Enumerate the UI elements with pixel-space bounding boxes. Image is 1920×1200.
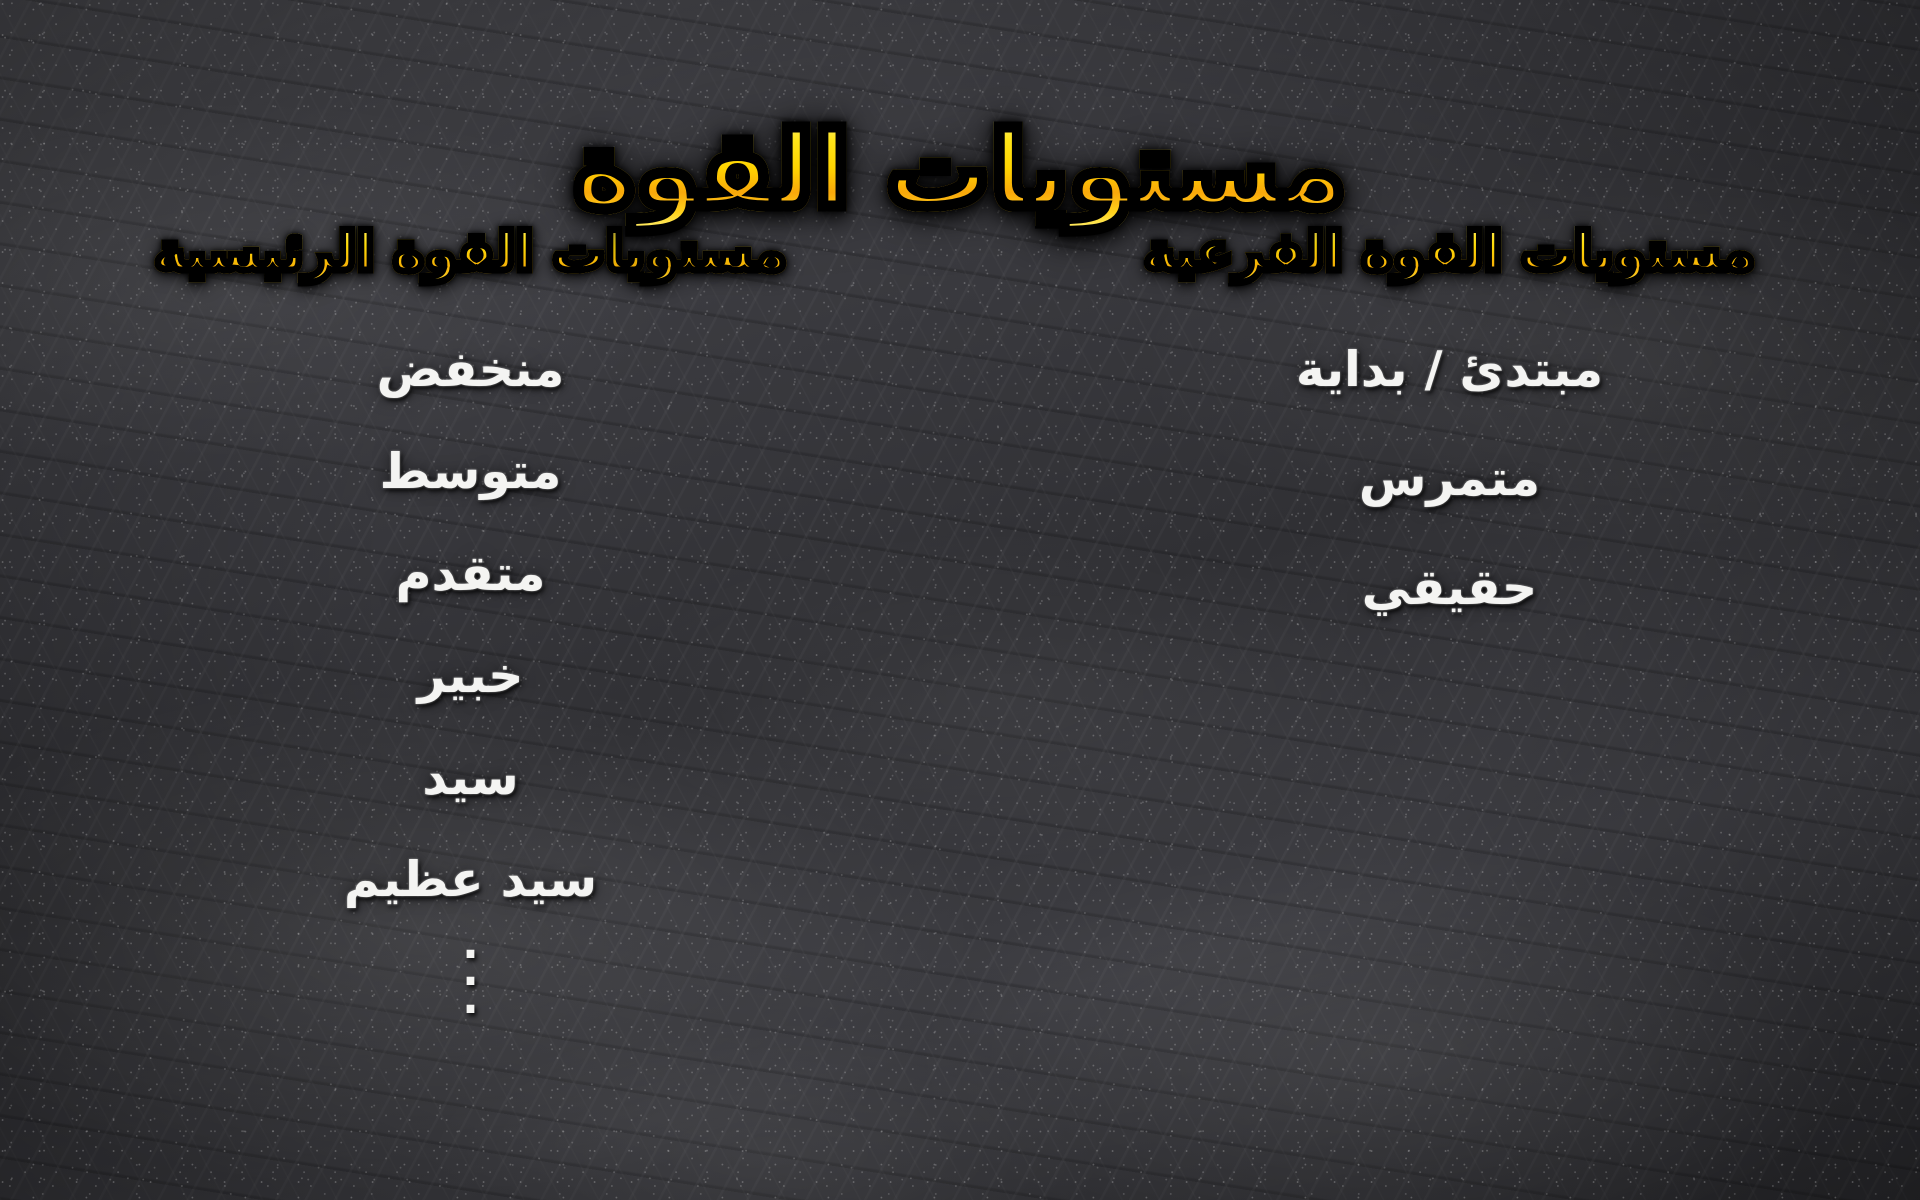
list-item: متوسط [344, 447, 597, 496]
title-container: مستويات القوة [0, 44, 1920, 296]
main-levels-list: منخفض متوسط متقدم خبير سيد سيد عظيم [344, 345, 597, 904]
continuation-dots: . . . [462, 930, 479, 1012]
list-item: سيد [344, 753, 597, 802]
list-item: مبتدئ / بداية [1296, 345, 1603, 394]
continuation-dot: . [462, 985, 479, 1012]
list-item: خبير [344, 651, 597, 700]
main-levels-column: مستويات القوة الرئيسية منخفض متوسط متقدم… [0, 222, 979, 1162]
list-item: منخفض [344, 345, 597, 394]
chalkboard-slide: مستويات القوة مستويات القوة الفرعية مبتد… [0, 0, 1920, 1200]
list-item: سيد عظيم [344, 855, 597, 904]
list-item: متمرس [1296, 454, 1603, 503]
page-title: مستويات القوة [574, 114, 1347, 226]
sub-levels-column: مستويات القوة الفرعية مبتدئ / بداية متمر… [979, 222, 1920, 1162]
list-item: حقيقي [1296, 563, 1603, 612]
levels-columns: مستويات القوة الفرعية مبتدئ / بداية متمر… [0, 222, 1920, 1162]
list-item: متقدم [344, 549, 597, 598]
sub-levels-list: مبتدئ / بداية متمرس حقيقي [1296, 345, 1603, 612]
